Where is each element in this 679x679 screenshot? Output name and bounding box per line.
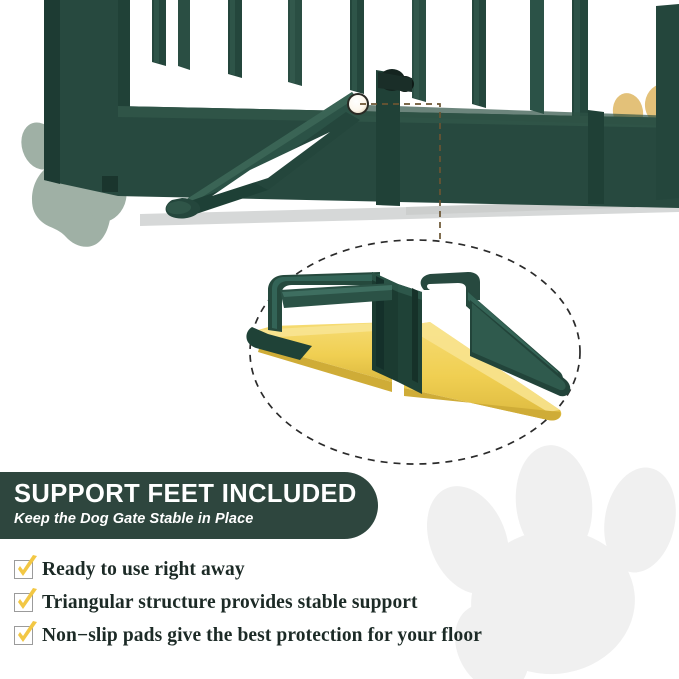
feature-label: Non−slip pads give the best protection f… <box>42 625 482 647</box>
banner-title: SUPPORT FEET INCLUDED <box>14 479 378 509</box>
feature-item: Non−slip pads give the best protection f… <box>14 620 654 651</box>
feature-label: Ready to use right away <box>42 559 245 581</box>
feature-item: Triangular structure provides stable sup… <box>14 587 654 618</box>
checkbox-checked-icon <box>14 560 33 579</box>
gate-slats <box>152 0 588 120</box>
feature-item: Ready to use right away <box>14 554 654 585</box>
dog-gate <box>44 0 679 226</box>
checkbox-checked-icon <box>14 626 33 645</box>
feature-label: Triangular structure provides stable sup… <box>42 592 418 614</box>
feature-list: Ready to use right away Triangular struc… <box>14 554 654 653</box>
product-feature-image: SUPPORT FEET INCLUDED Keep the Dog Gate … <box>0 0 679 679</box>
feature-banner: SUPPORT FEET INCLUDED Keep the Dog Gate … <box>0 472 378 539</box>
support-rib-right <box>398 284 422 394</box>
banner-subtitle: Keep the Dog Gate Stable in Place <box>14 509 378 529</box>
checkbox-checked-icon <box>14 593 33 612</box>
support-feet-detail <box>246 272 570 421</box>
